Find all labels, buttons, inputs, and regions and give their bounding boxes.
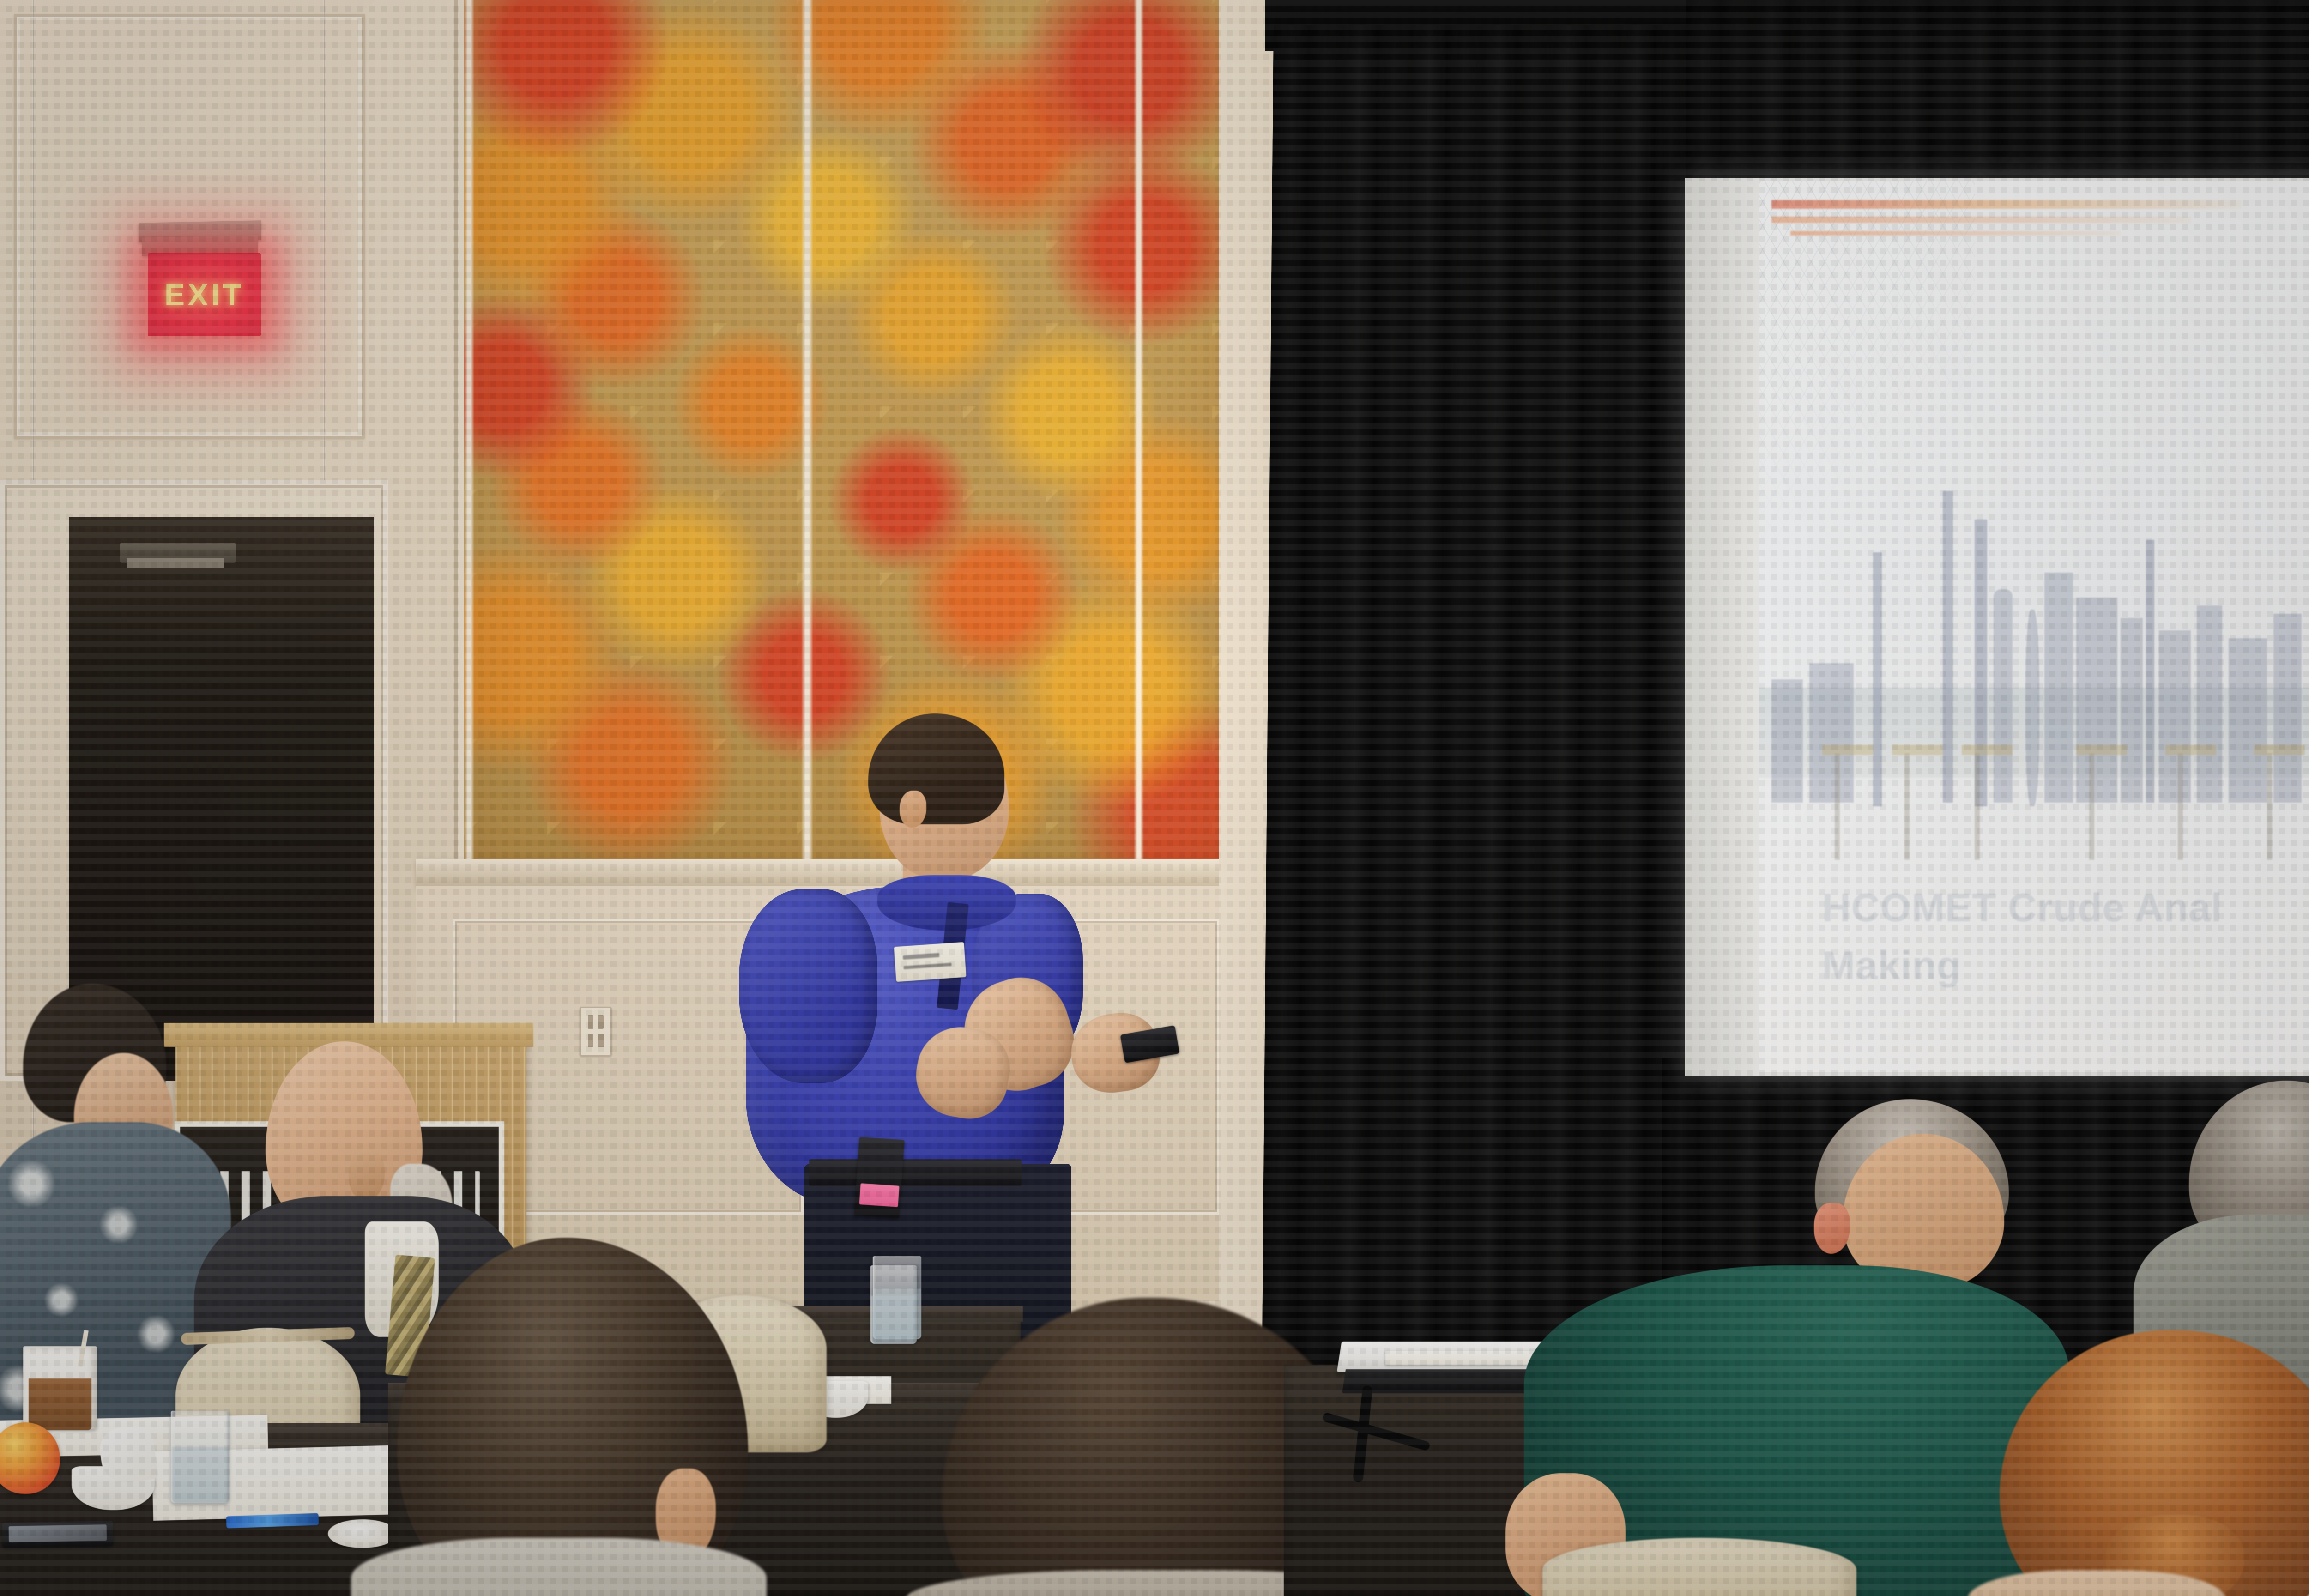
exit-sign-label: EXIT <box>164 279 244 310</box>
presenter-sleeve-left <box>739 889 877 1083</box>
cup-lid[interactable] <box>328 1519 397 1548</box>
wallpaper-strip-divider <box>464 0 474 868</box>
paper-handout[interactable] <box>1385 1351 1552 1365</box>
conference-presentation-photo: EXIT <box>0 0 2309 1596</box>
exit-sign: EXIT <box>148 253 261 336</box>
water-glass[interactable] <box>171 1411 229 1503</box>
wallpaper-strip-divider <box>1134 0 1144 868</box>
presenter-belt <box>809 1159 1022 1186</box>
black-stage-drape-valance <box>1686 0 2309 194</box>
slide-title-line-1: HCOMET Crude Anal <box>1822 885 2309 931</box>
screen-left-border <box>1685 178 1759 1076</box>
mic-transmitter-tape <box>859 1183 899 1207</box>
orange-floral-damask-wallpaper <box>464 0 1219 868</box>
wall-outlet[interactable] <box>580 1007 612 1057</box>
chair-rail-molding <box>416 859 1247 887</box>
slide-accent-bar <box>1790 231 2121 236</box>
slide-accent-bar <box>1771 200 2242 209</box>
wallpaper-strip-divider <box>801 0 813 868</box>
door-closer-arm <box>127 558 224 568</box>
banquet-chair[interactable] <box>1542 1538 1856 1596</box>
attendee-shoulders <box>351 1538 767 1596</box>
coffee-cup-sleeve <box>29 1378 91 1430</box>
name-badge <box>894 942 967 982</box>
slide-title-line-2: Making <box>1822 943 2309 989</box>
slide-title-block: HCOMET Crude Anal Making <box>1822 885 2309 989</box>
smartphone[interactable] <box>2 1521 114 1548</box>
slide-accent-bar <box>1771 217 2191 223</box>
slide-content: HCOMET Crude Anal Making <box>1759 181 2309 1072</box>
black-stage-drape <box>1262 25 1703 1392</box>
water-glass[interactable] <box>870 1265 917 1344</box>
slide-refinery-image <box>1759 466 2309 877</box>
